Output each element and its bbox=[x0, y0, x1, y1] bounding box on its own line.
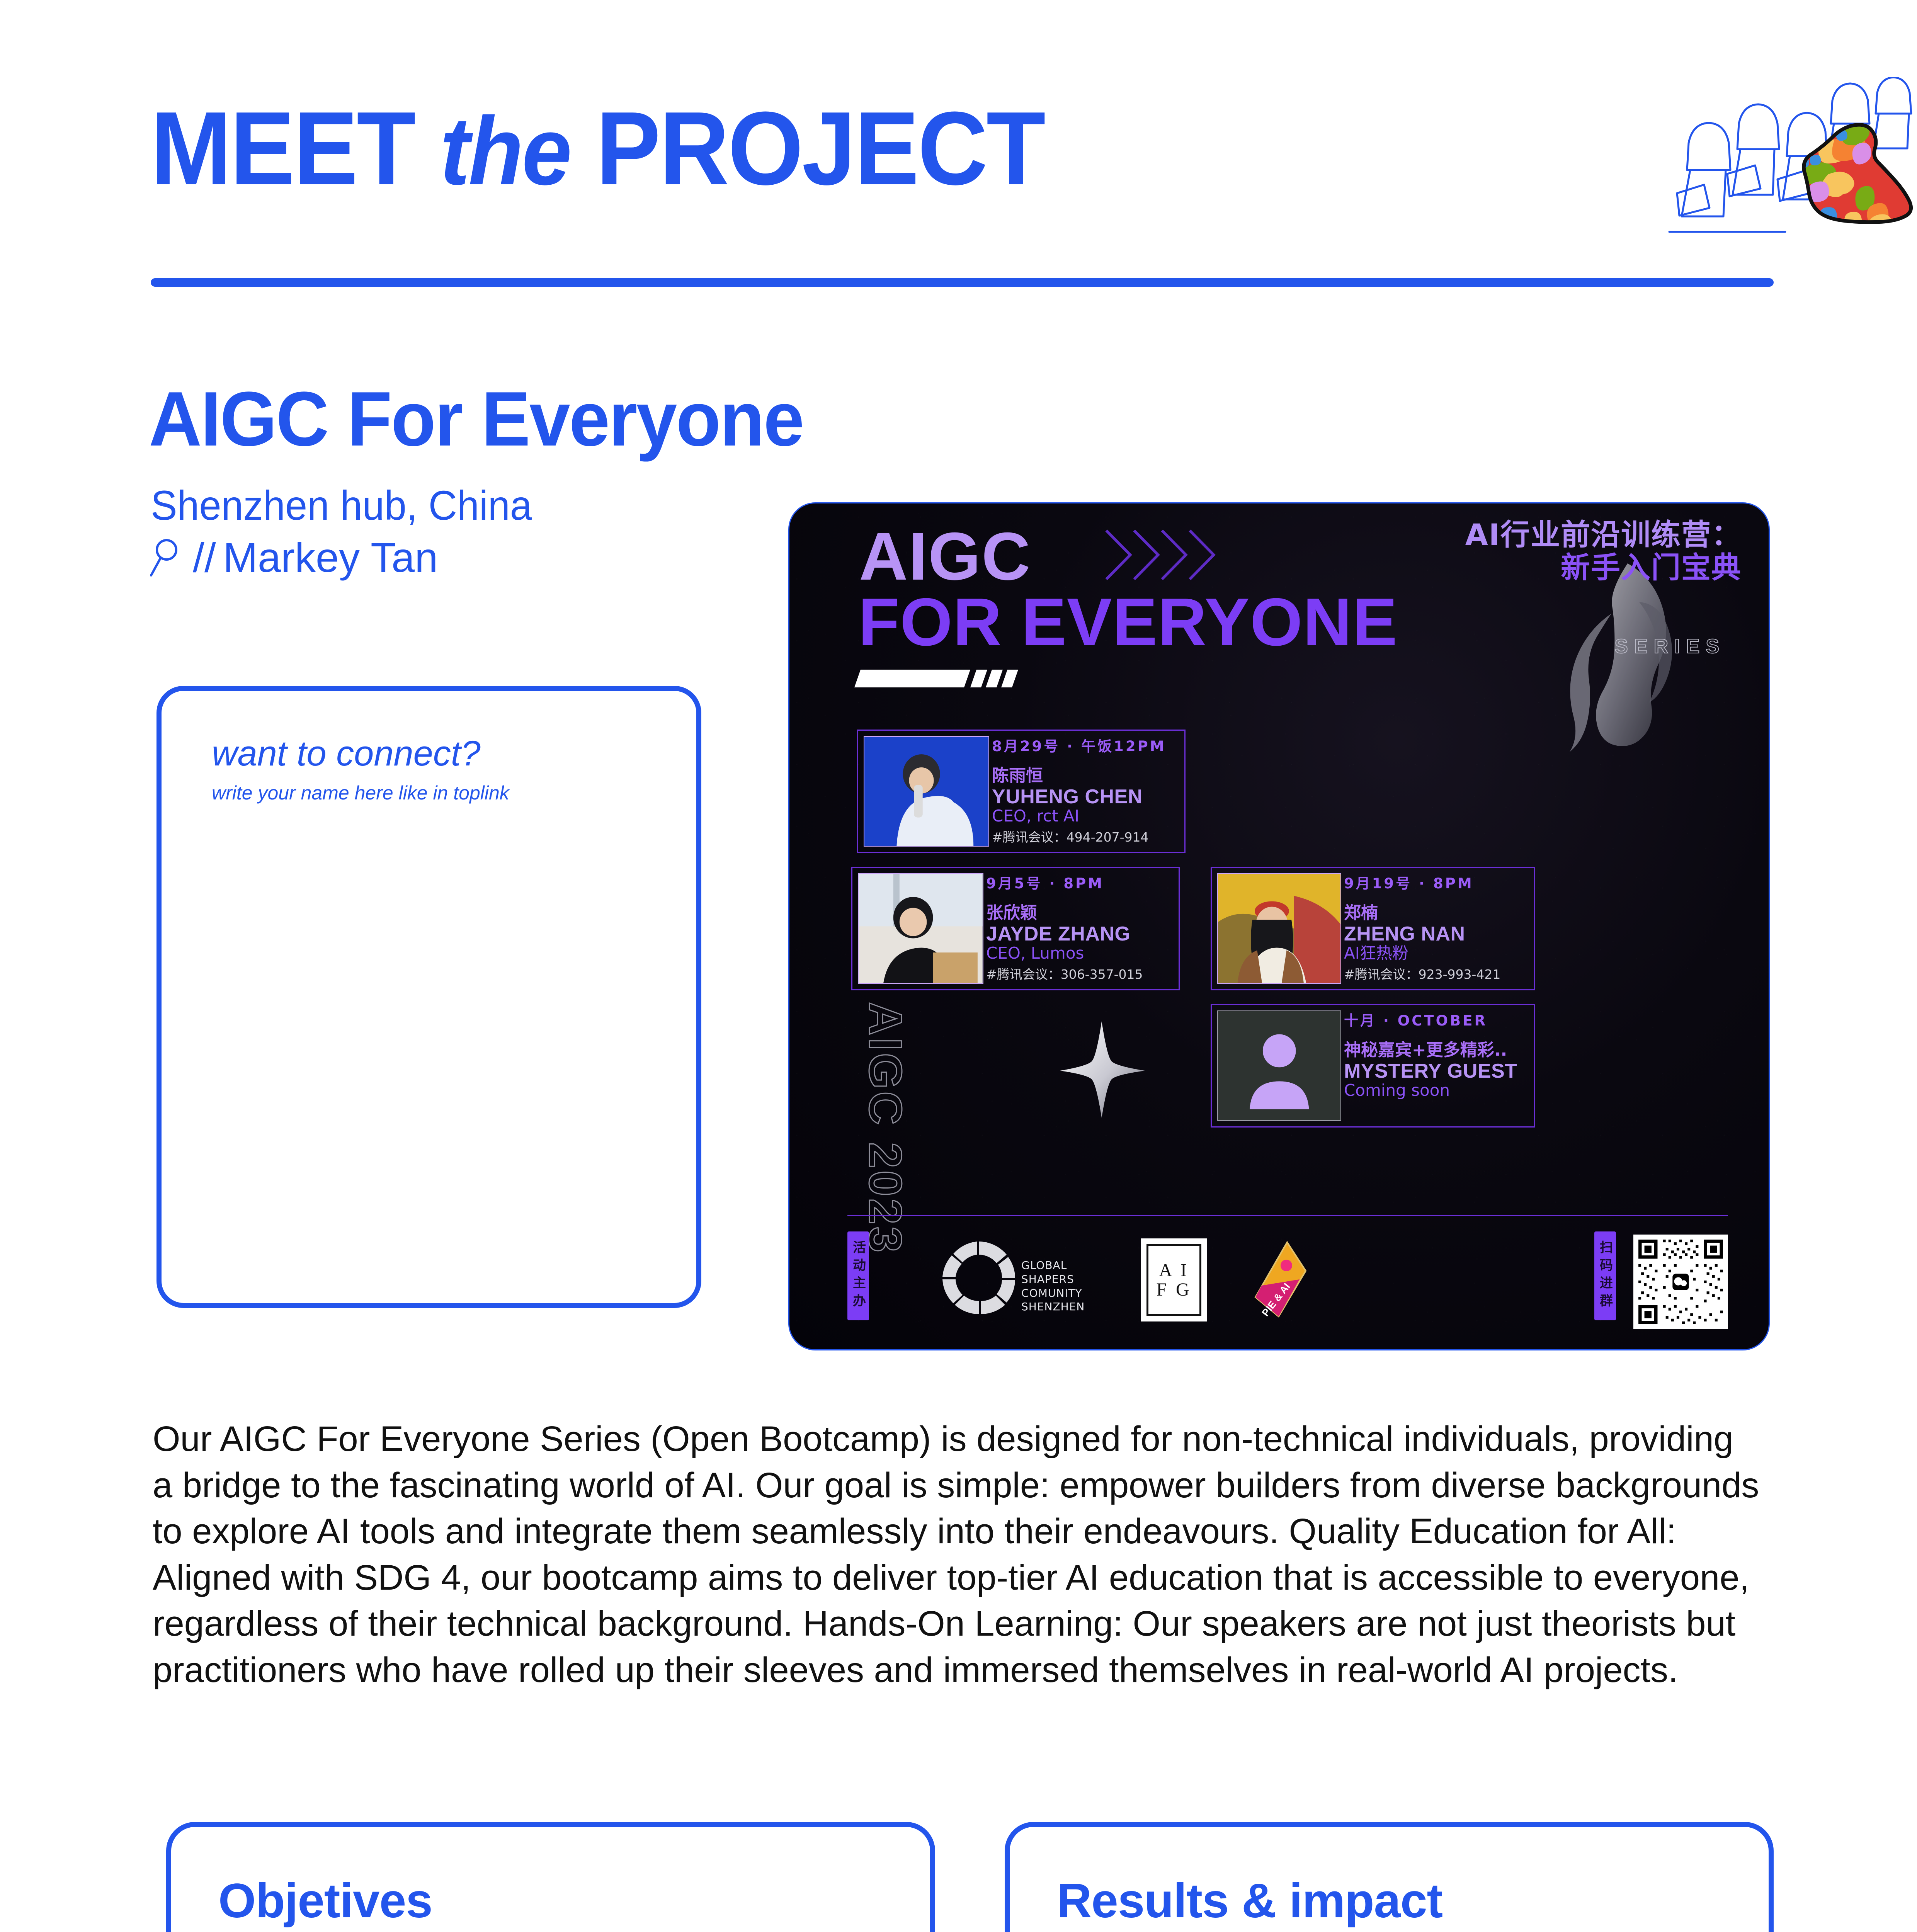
pie-and-ai-logo: PIE & AI bbox=[1242, 1239, 1325, 1322]
speaker-photo-zheng-nan bbox=[1217, 873, 1341, 984]
poster-title-line1: AIGC bbox=[859, 523, 1031, 590]
results-heading: Results & impact bbox=[1057, 1873, 1442, 1929]
speaker-cn-name: 郑楠 bbox=[1344, 899, 1529, 923]
header-title-part1: MEET bbox=[151, 90, 440, 207]
speaker-en-name: ZHENG NAN bbox=[1344, 923, 1529, 945]
speaker-info: 9月5号 · 8PM 张欣颖 JAYDE ZHANG CEO, Lumos #腾… bbox=[986, 872, 1173, 985]
author-name: Markey Tan bbox=[223, 533, 438, 582]
page-title: AIGC For Everyone bbox=[149, 375, 803, 464]
speaker-photo-yuheng-chen bbox=[864, 736, 989, 847]
wechat-qr-code-icon[interactable] bbox=[1633, 1235, 1728, 1329]
poster-footer: 活动主办 GLOBAL bbox=[847, 1215, 1728, 1332]
speaker-info: 9月19号 · 8PM 郑楠 ZHENG NAN AI狂热粉 #腾讯会议：923… bbox=[1344, 872, 1529, 985]
speaker-en-name: MYSTERY GUEST bbox=[1344, 1061, 1529, 1082]
global-shapers-text: GLOBAL SHAPERS COMUNITY SHENZHEN bbox=[1021, 1259, 1085, 1314]
gsc-line2: SHAPERS bbox=[1021, 1272, 1085, 1286]
results-box: Results & impact Grew a community of 800… bbox=[1005, 1822, 1774, 1932]
speaker-info: 十月 · OCTOBER 神秘嘉宾+更多精彩.. MYSTERY GUEST C… bbox=[1344, 1009, 1529, 1122]
magnifier-icon bbox=[149, 537, 186, 578]
speaker-card: 8月29号 · 午饭12PM 陈雨恒 YUHENG CHEN CEO, rct … bbox=[857, 730, 1186, 853]
eagle-bird-image bbox=[1512, 556, 1728, 787]
event-poster-image: AIGC AI行业前沿训练营： 新手入门宝典 FOR EVERYONE SERI… bbox=[788, 502, 1770, 1350]
speaker-en-name: JAYDE ZHANG bbox=[986, 923, 1173, 945]
global-shapers-logo-icon bbox=[940, 1239, 1017, 1316]
objectives-box: Objetives Quality Education: Aligned wit… bbox=[166, 1822, 935, 1932]
speaker-info: 8月29号 · 午饭12PM 陈雨恒 YUHENG CHEN CEO, rct … bbox=[992, 735, 1179, 848]
header-title-part2: PROJECT bbox=[570, 90, 1044, 207]
speaker-en-name: YUHENG CHEN bbox=[992, 786, 1179, 808]
objectives-heading: Objetives bbox=[218, 1873, 432, 1929]
author-separator: // bbox=[193, 533, 216, 582]
speaker-photo-jayde-zhang bbox=[858, 873, 983, 984]
speaker-date: 9月19号 · 8PM bbox=[1344, 872, 1529, 893]
four-point-star-icon bbox=[1060, 1021, 1145, 1118]
page-header: MEET the PROJECT bbox=[147, 81, 1781, 298]
aifg-line1: A I bbox=[1159, 1261, 1189, 1280]
speaker-role: CEO, rct AI bbox=[992, 808, 1179, 825]
project-description: Our AIGC For Everyone Series (Open Bootc… bbox=[153, 1416, 1760, 1694]
qr-tab-label: 扫码进群 bbox=[1596, 1240, 1615, 1311]
people-at-table-with-bizkaia-map-icon bbox=[1665, 77, 1917, 263]
header-divider bbox=[151, 278, 1774, 287]
chevrons-right-icon bbox=[1102, 526, 1230, 584]
speaker-cn-name: 神秘嘉宾+更多精彩.. bbox=[1344, 1036, 1529, 1061]
project-author-row: // Markey Tan bbox=[149, 533, 438, 582]
speaker-meeting-id: #腾讯会议：923-993-421 bbox=[1344, 964, 1529, 983]
aifg-logo: A I F G bbox=[1141, 1238, 1207, 1321]
poster-cn-line2: 新手入门宝典 bbox=[1465, 551, 1742, 584]
host-tab-label: 活动主办 bbox=[849, 1240, 868, 1311]
speaker-role: AI狂热粉 bbox=[1344, 945, 1529, 962]
speaker-date: 9月5号 · 8PM bbox=[986, 872, 1173, 893]
speaker-date: 8月29号 · 午饭12PM bbox=[992, 735, 1179, 755]
gsc-line1: GLOBAL bbox=[1021, 1259, 1085, 1272]
connect-box[interactable]: want to connect? write your name here li… bbox=[156, 686, 701, 1308]
anonymous-person-icon bbox=[1217, 1010, 1341, 1121]
connect-subtitle: write your name here like in toplink bbox=[212, 782, 509, 804]
project-hub-label: Shenzhen hub, China bbox=[151, 481, 532, 529]
speaker-role: Coming soon bbox=[1344, 1082, 1529, 1099]
poster-series-label: SERIES bbox=[1614, 635, 1725, 658]
speaker-card: 十月 · OCTOBER 神秘嘉宾+更多精彩.. MYSTERY GUEST C… bbox=[1211, 1004, 1535, 1128]
speaker-cn-name: 陈雨恒 bbox=[992, 762, 1179, 786]
qr-tab: 扫码进群 bbox=[1594, 1231, 1616, 1320]
host-tab: 活动主办 bbox=[847, 1231, 869, 1320]
speaker-date: 十月 · OCTOBER bbox=[1344, 1009, 1529, 1030]
speaker-meeting-id: #腾讯会议：306-357-015 bbox=[986, 964, 1173, 983]
header-title-italic: the bbox=[440, 97, 571, 205]
poster-cn-line1: AI行业前沿训练营： bbox=[1465, 518, 1742, 551]
gsc-line3: COMUNITY bbox=[1021, 1286, 1085, 1300]
speaker-cn-name: 张欣颖 bbox=[986, 899, 1173, 923]
connect-question: want to connect? bbox=[212, 733, 481, 774]
poster-chinese-headline: AI行业前沿训练营： 新手入门宝典 bbox=[1465, 518, 1742, 584]
poster-page: MEET the PROJECT bbox=[0, 0, 1917, 1932]
speaker-card: 9月19号 · 8PM 郑楠 ZHENG NAN AI狂热粉 #腾讯会议：923… bbox=[1211, 867, 1535, 990]
poster-title-line2: FOR EVERYONE bbox=[858, 588, 1398, 656]
speaker-meeting-id: #腾讯会议：494-207-914 bbox=[992, 827, 1179, 845]
aifg-line2: F G bbox=[1156, 1281, 1191, 1299]
gsc-line4: SHENZHEN bbox=[1021, 1300, 1085, 1314]
speaker-role: CEO, Lumos bbox=[986, 945, 1173, 962]
speaker-card: 9月5号 · 8PM 张欣颖 JAYDE ZHANG CEO, Lumos #腾… bbox=[851, 867, 1180, 990]
header-title: MEET the PROJECT bbox=[151, 97, 1044, 201]
slash-bars-decoration-icon bbox=[854, 670, 1024, 687]
